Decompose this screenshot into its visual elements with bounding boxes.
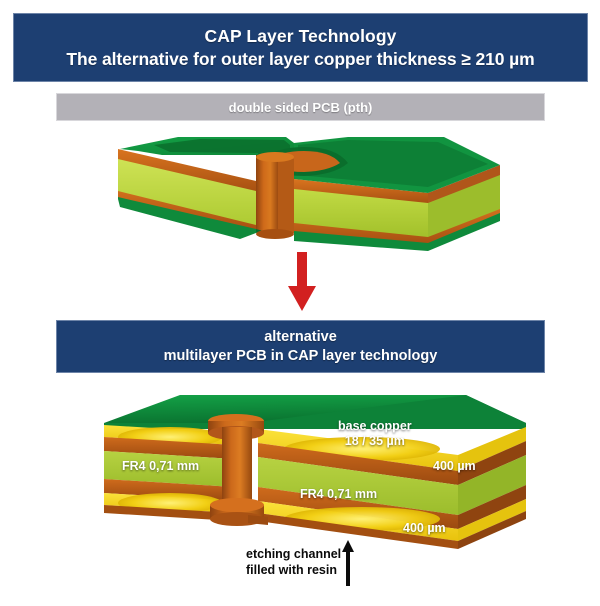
title-banner: CAP Layer Technology The alternative for… [13,13,588,82]
alternative-line-2: multilayer PCB in CAP layer technology [164,347,438,366]
etching-channel-caption: etching channel filled with resin [246,547,341,578]
cap-pcb-body [104,395,526,549]
double-sided-pcb-label-text: double sided PCB (pth) [229,100,373,115]
caption-line-2: filled with resin [246,563,341,579]
alternative-line-1: alternative [264,328,337,347]
pcb-top-body [118,137,500,251]
cap-layer-pcb-illustration [62,393,542,553]
caption-line-1: etching channel [246,547,341,563]
title-line-2: The alternative for outer layer copper t… [66,48,534,70]
up-arrow-icon [341,540,355,586]
title-line-1: CAP Layer Technology [205,25,397,47]
double-sided-pcb-label-bar: double sided PCB (pth) [56,93,545,121]
down-arrow-icon [287,252,317,312]
double-sided-pcb-illustration [108,133,508,258]
alternative-banner: alternative multilayer PCB in CAP layer … [56,320,545,373]
